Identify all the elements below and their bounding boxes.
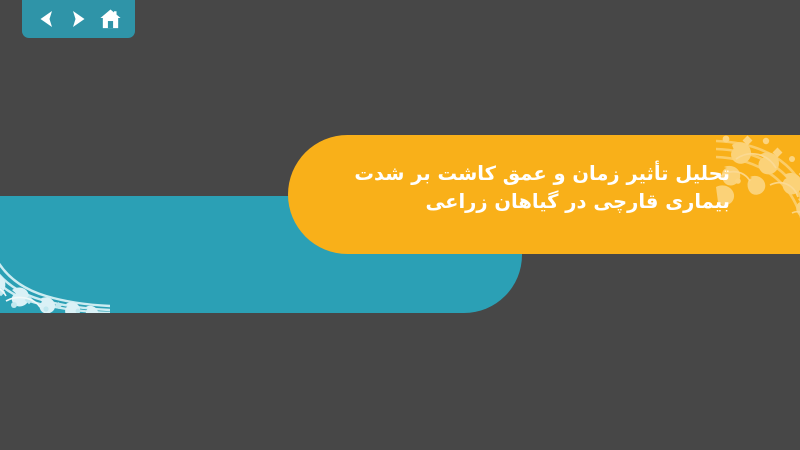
back-button[interactable] — [34, 6, 60, 32]
triangle-right-icon — [68, 9, 88, 29]
slide-title: تحلیل تأثیر زمان و عمق کاشت بر شدت بیمار… — [300, 160, 730, 216]
slide-title-line-1: تحلیل تأثیر زمان و عمق کاشت بر شدت — [300, 160, 730, 188]
arabesque-ornament-icon — [0, 196, 110, 313]
forward-button[interactable] — [65, 6, 91, 32]
home-button[interactable] — [97, 6, 123, 32]
triangle-left-icon — [37, 9, 57, 29]
slide-title-line-2: بیماری قارچی در گیاهان زراعی — [300, 188, 730, 216]
home-icon — [99, 8, 122, 31]
navigation-bar — [22, 0, 135, 38]
